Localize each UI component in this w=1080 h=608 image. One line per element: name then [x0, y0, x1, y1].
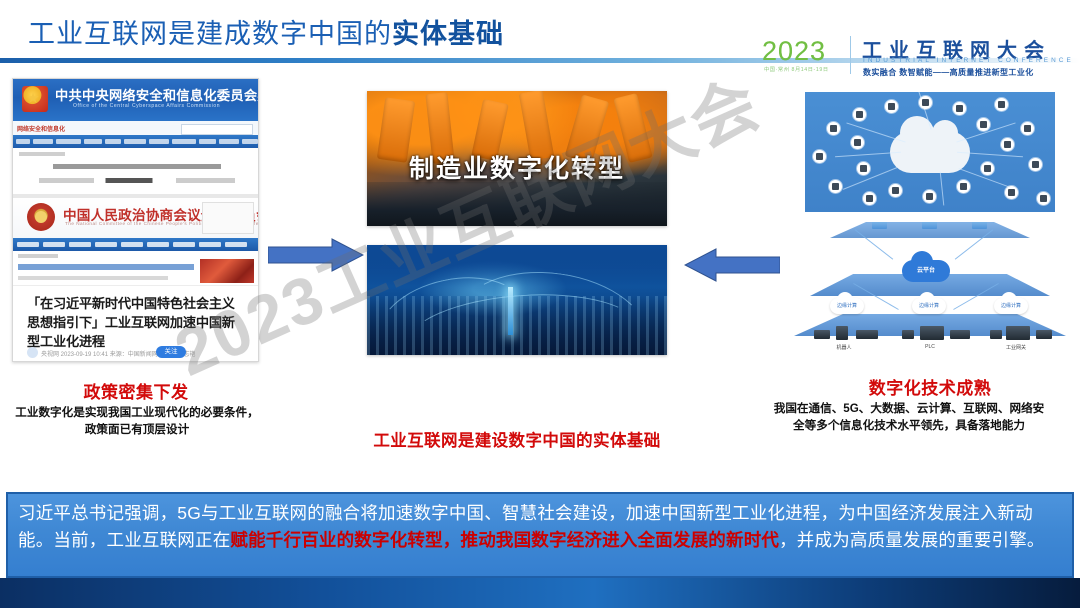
edge-cloud-label: 边缘计算 — [830, 302, 864, 309]
digital-city-photo — [367, 245, 667, 355]
slide-canvas: 工业互联网是建成数字中国的实体基础 2023 中国·常州 8月14日-19日 工… — [0, 0, 1080, 608]
server-icon — [872, 222, 887, 229]
arrow-left-icon — [684, 248, 780, 282]
edge-cloud-label: 边缘计算 — [994, 302, 1028, 309]
cac-navbar[interactable] — [13, 135, 258, 148]
device-node-icon — [827, 122, 840, 135]
nav-item[interactable] — [43, 242, 65, 247]
cppcc-emblem-icon — [27, 203, 55, 231]
photo-overlay-caption: 制造业数字化转型 — [367, 149, 667, 185]
device-node-icon — [889, 184, 902, 197]
field-device-icon — [836, 326, 848, 340]
nav-item[interactable] — [149, 139, 169, 144]
policy-website-screenshot: 中共中央网络安全和信息化委员会办公室 Office of the Central… — [12, 78, 259, 362]
device-node-icon — [851, 136, 864, 149]
field-device-icon — [1006, 326, 1030, 340]
page-title-normal: 工业互联网是建成数字中国的 — [28, 19, 392, 49]
nav-item[interactable] — [105, 139, 121, 144]
quote-highlight: 赋能千行百业的数字化转型，推动我国数字经济进入全面发展的新时代 — [230, 530, 779, 550]
news-article-card: 「在习近平新时代中国特色社会主义思想指引下」工业互联网加速中国新型工业化进程 央… — [13, 285, 258, 362]
field-device-label: PLC — [910, 344, 950, 350]
nav-item[interactable] — [69, 242, 91, 247]
field-device-icon — [902, 330, 914, 339]
logo-divider — [850, 36, 851, 74]
factory-floor-shade — [367, 182, 667, 226]
device-node-icon — [885, 100, 898, 113]
server-icon — [922, 222, 937, 229]
cppcc-navbar[interactable] — [13, 238, 258, 251]
nav-item[interactable] — [172, 139, 196, 144]
nav-item[interactable] — [56, 139, 82, 144]
center-caption: 工业互联网是建设数字中国的实体基础 — [367, 427, 667, 451]
cppcc-article-area — [13, 251, 258, 285]
field-device-label: 工业网关 — [994, 344, 1038, 351]
cloud-platform-label: 云平台 — [902, 265, 950, 274]
device-node-icon — [863, 192, 876, 205]
logo-year-subtitle: 中国·常州 8月14日-19日 — [764, 66, 829, 73]
search-input[interactable] — [181, 124, 253, 135]
nav-item[interactable] — [33, 139, 53, 144]
news-article-headline: 「在习近平新时代中国特色社会主义思想指引下」工业互联网加速中国新型工业化进程 — [27, 294, 243, 351]
cppcc-site-header: 中国人民政治协商会议全国委员会 The National Committee o… — [13, 198, 258, 239]
nav-item[interactable] — [225, 242, 247, 247]
page-title-emphasis: 实体基础 — [392, 19, 504, 49]
party-emblem-icon — [22, 86, 48, 112]
device-node-icon — [995, 98, 1008, 111]
right-caption-heading: 数字化技术成熟 — [790, 374, 1070, 399]
nav-item[interactable] — [95, 242, 117, 247]
device-node-icon — [853, 108, 866, 121]
right-caption-line2: 全等多个信息化技术水平领先，具备落地能力 — [742, 417, 1076, 434]
breadcrumb — [18, 254, 58, 258]
quote-text: 习近平总书记强调，5G与工业互联网的融合将加速数字中国、智慧社会建设，加速中国新… — [18, 500, 1062, 554]
device-node-icon — [981, 162, 994, 175]
edge-cloud-icon: 边缘计算 — [912, 298, 946, 314]
device-node-icon — [1037, 192, 1050, 205]
device-node-icon — [813, 150, 826, 163]
field-device-icon — [1036, 330, 1052, 339]
logo-tagline: 数实融合 数智赋能——高质量推进新型工业化 — [863, 67, 1034, 78]
left-caption-line2: 政策面已有顶层设计 — [8, 421, 266, 438]
field-device-label: 机器人 — [824, 344, 864, 351]
field-device-icon — [990, 330, 1002, 339]
left-caption-heading: 政策密集下发 — [12, 378, 260, 403]
server-icon — [972, 222, 987, 229]
device-node-icon — [923, 190, 936, 203]
device-node-icon — [829, 180, 842, 193]
nav-item[interactable] — [147, 242, 169, 247]
nav-item[interactable] — [219, 139, 239, 144]
edge-cloud-icon: 边缘计算 — [830, 298, 864, 314]
device-node-icon — [1005, 186, 1018, 199]
device-node-icon — [957, 180, 970, 193]
device-node-icon — [1021, 122, 1034, 135]
left-caption-body: 工业数字化是实现我国工业现代化的必要条件， 政策面已有顶层设计 — [8, 404, 266, 438]
edge-cloud-label: 边缘计算 — [912, 302, 946, 309]
device-node-icon — [1029, 158, 1042, 171]
follow-button[interactable]: 关注 — [156, 346, 186, 358]
login-box[interactable] — [202, 202, 254, 234]
cac-sub-strip: 网络安全和信息化 — [13, 121, 258, 136]
cloud-platform-icon: 云平台 — [902, 260, 950, 282]
device-node-icon — [857, 162, 870, 175]
logo-name-en: INDUSTRIAL INTERNET CONFERENCE — [863, 57, 1074, 64]
page-title: 工业互联网是建成数字中国的实体基础 — [28, 12, 504, 51]
nav-item[interactable] — [242, 139, 258, 144]
quote-part2: ，并成为高质量发展的重要引擎。 — [779, 530, 1045, 550]
device-node-icon — [919, 96, 932, 109]
layered-network-diagram: 云平台 边缘计算 边缘计算 边缘计算 机器人 PLC 工业网关 — [790, 222, 1070, 367]
field-device-icon — [920, 326, 944, 340]
cac-site-header: 中共中央网络安全和信息化委员会办公室 Office of the Central… — [13, 79, 258, 121]
nav-item[interactable] — [17, 242, 39, 247]
field-device-icon — [950, 330, 970, 339]
arrow-right-icon — [268, 238, 364, 272]
iot-cloud-diagram — [805, 92, 1055, 212]
logo-year: 2023 — [762, 36, 826, 67]
iot-link-line — [940, 172, 945, 206]
quote-callout-box: 习近平总书记强调，5G与工业互联网的融合将加速数字中国、智慧社会建设，加速中国新… — [6, 492, 1074, 578]
nav-item[interactable] — [124, 139, 146, 144]
nav-item[interactable] — [16, 139, 30, 144]
cppcc-article-link[interactable] — [18, 264, 194, 270]
field-device-icon — [814, 330, 830, 339]
nav-item[interactable] — [199, 139, 217, 144]
cac-site-title: 中共中央网络安全和信息化委员会办公室 — [55, 85, 259, 104]
breadcrumb — [19, 152, 65, 156]
field-device-icon — [856, 330, 878, 339]
nav-item[interactable] — [199, 242, 221, 247]
right-caption-body: 我国在通信、5G、大数据、云计算、互联网、网络安 全等多个信息化技术水平领先，具… — [742, 400, 1076, 434]
cac-article-area — [13, 148, 258, 194]
edge-cloud-icon: 边缘计算 — [994, 298, 1028, 314]
manufacturing-robots-photo: 制造业数字化转型 — [367, 91, 667, 226]
conference-logo: 2023 中国·常州 8月14日-19日 工业互联网大会 INDUSTRIAL … — [762, 34, 1074, 82]
device-node-icon — [1001, 138, 1014, 151]
avatar — [27, 347, 38, 358]
cac-article-headline[interactable] — [53, 164, 221, 169]
cac-article-meta — [39, 178, 235, 183]
cac-site-subtitle: Office of the Central Cyberspace Affairs… — [73, 103, 220, 109]
left-caption-line1: 工业数字化是实现我国工业现代化的必要条件， — [8, 404, 266, 421]
cac-strip-logo: 网络安全和信息化 — [17, 124, 65, 133]
nav-item[interactable] — [121, 242, 143, 247]
nav-item[interactable] — [84, 139, 102, 144]
bottom-decorative-band — [0, 578, 1080, 608]
cppcc-article-meta — [18, 276, 168, 280]
cppcc-thumbnail — [200, 259, 254, 283]
right-caption-line1: 我国在通信、5G、大数据、云计算、互联网、网络安 — [742, 400, 1076, 417]
device-node-icon — [977, 118, 990, 131]
nav-item[interactable] — [173, 242, 195, 247]
device-node-icon — [953, 102, 966, 115]
